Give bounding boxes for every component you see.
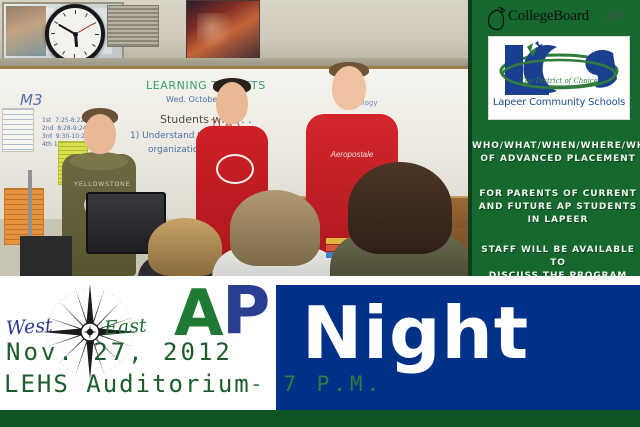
acorn-icon bbox=[486, 6, 508, 32]
seated-student-head bbox=[230, 190, 320, 266]
compass-east-label: East bbox=[103, 315, 147, 340]
panel-line-2: FOR PARENTS OF CURRENT AND FUTURE AP STU… bbox=[472, 188, 640, 227]
ap-night-poster: LEARNING TARGETS Wed. October 17 Student… bbox=[0, 0, 640, 427]
school-name: Lapeer Community Schools bbox=[489, 97, 629, 108]
night-panel: Night bbox=[276, 285, 640, 418]
jersey-emblem bbox=[216, 154, 254, 184]
jersey-wordmark: Aeropostale bbox=[320, 150, 384, 159]
event-time: - 7 P.M. bbox=[250, 372, 383, 396]
event-venue: LEHS Auditorium bbox=[4, 370, 251, 398]
title-night: Night bbox=[302, 287, 529, 379]
wall-vent bbox=[107, 5, 159, 47]
clock-hub bbox=[73, 32, 78, 37]
collegeboard-wordmark: CollegeBoard bbox=[508, 8, 589, 25]
hoodie-wordmark: YELLOWSTONE bbox=[74, 182, 124, 188]
compass-west-label: West bbox=[5, 314, 53, 339]
wall-chart-white bbox=[2, 108, 34, 152]
title-letter-p: P bbox=[222, 278, 270, 344]
event-date: Nov. 27, 2012 bbox=[6, 338, 233, 366]
collegeboard-ap-label: AP bbox=[606, 9, 624, 25]
equipment-cart bbox=[20, 236, 72, 276]
info-panel: CollegeBoard AP The District of Choice L… bbox=[468, 0, 640, 276]
wall-clock-icon bbox=[45, 4, 105, 64]
seated-student-head bbox=[348, 162, 452, 254]
svg-text:The District of Choice: The District of Choice bbox=[520, 77, 598, 85]
window-artwork bbox=[6, 6, 46, 56]
school-logo-box: The District of Choice Lapeer Community … bbox=[488, 36, 630, 120]
title-letter-a: A bbox=[174, 282, 224, 346]
collegeboard-logo: CollegeBoard AP bbox=[478, 4, 640, 34]
seated-student-head bbox=[148, 218, 222, 276]
whiteboard-initials: M3 bbox=[20, 91, 43, 109]
lcs-logo-icon: The District of Choice bbox=[497, 41, 621, 97]
classroom-photo: LEARNING TARGETS Wed. October 17 Student… bbox=[0, 0, 468, 276]
panel-line-1: WHO/WHAT/WHEN/WHERE/WHY OF ADVANCED PLAC… bbox=[472, 140, 640, 166]
wall-artwork-poster bbox=[186, 0, 260, 62]
event-banner: West East A P Night Nov. 27, 2012 LEHS A… bbox=[0, 276, 640, 427]
banner-bottom-strip bbox=[0, 410, 640, 427]
